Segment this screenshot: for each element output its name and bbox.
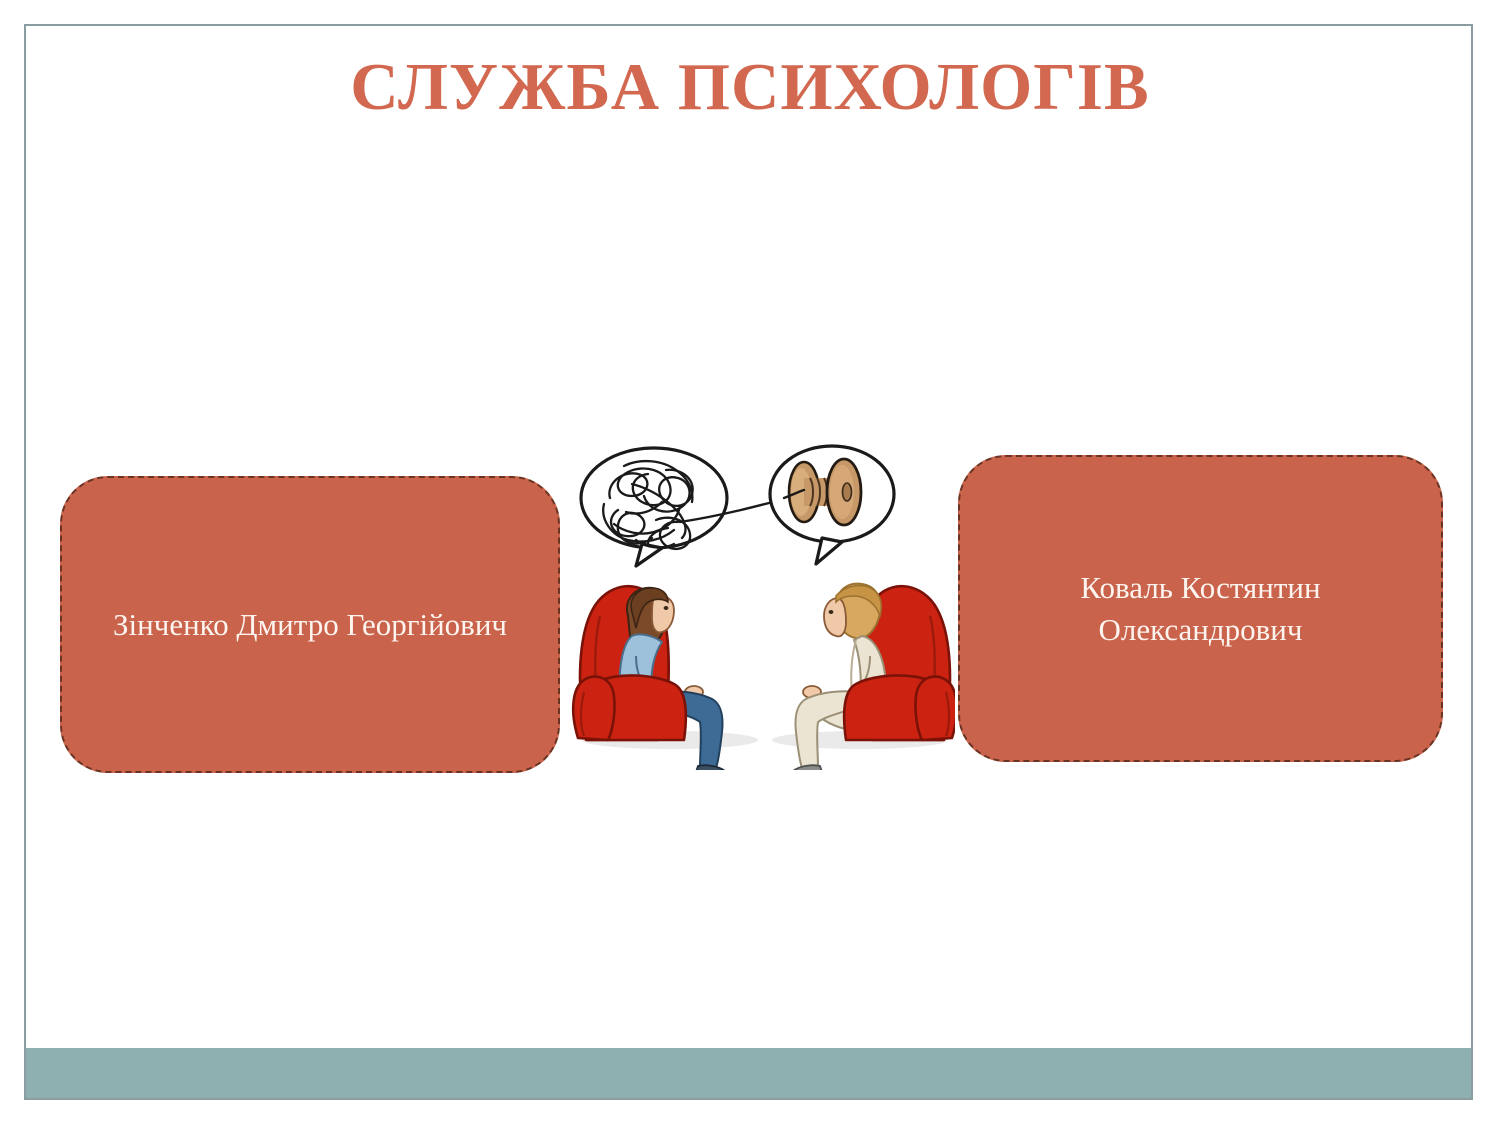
- thread-spool-thought-bubble-icon: [770, 446, 894, 564]
- name-card-left-label: Зінченко Дмитро Георгійович: [113, 604, 507, 646]
- presentation-slide: СЛУЖБА ПСИХОЛОГІВ Зінченко Дмитро Георгі…: [0, 0, 1500, 1125]
- left-armchair-and-client: [573, 586, 758, 770]
- name-card-right[interactable]: Коваль Костянтин Олександрович: [958, 455, 1443, 762]
- tangled-thought-bubble-icon: [581, 448, 727, 566]
- counselling-session-illustration: [570, 440, 955, 770]
- right-armchair-and-psychologist: [772, 584, 955, 770]
- footer-band: [26, 1048, 1471, 1098]
- page-title: СЛУЖБА ПСИХОЛОГІВ: [0, 52, 1500, 122]
- name-card-right-label: Коваль Костянтин Олександрович: [994, 567, 1407, 651]
- name-card-left[interactable]: Зінченко Дмитро Георгійович: [60, 476, 560, 773]
